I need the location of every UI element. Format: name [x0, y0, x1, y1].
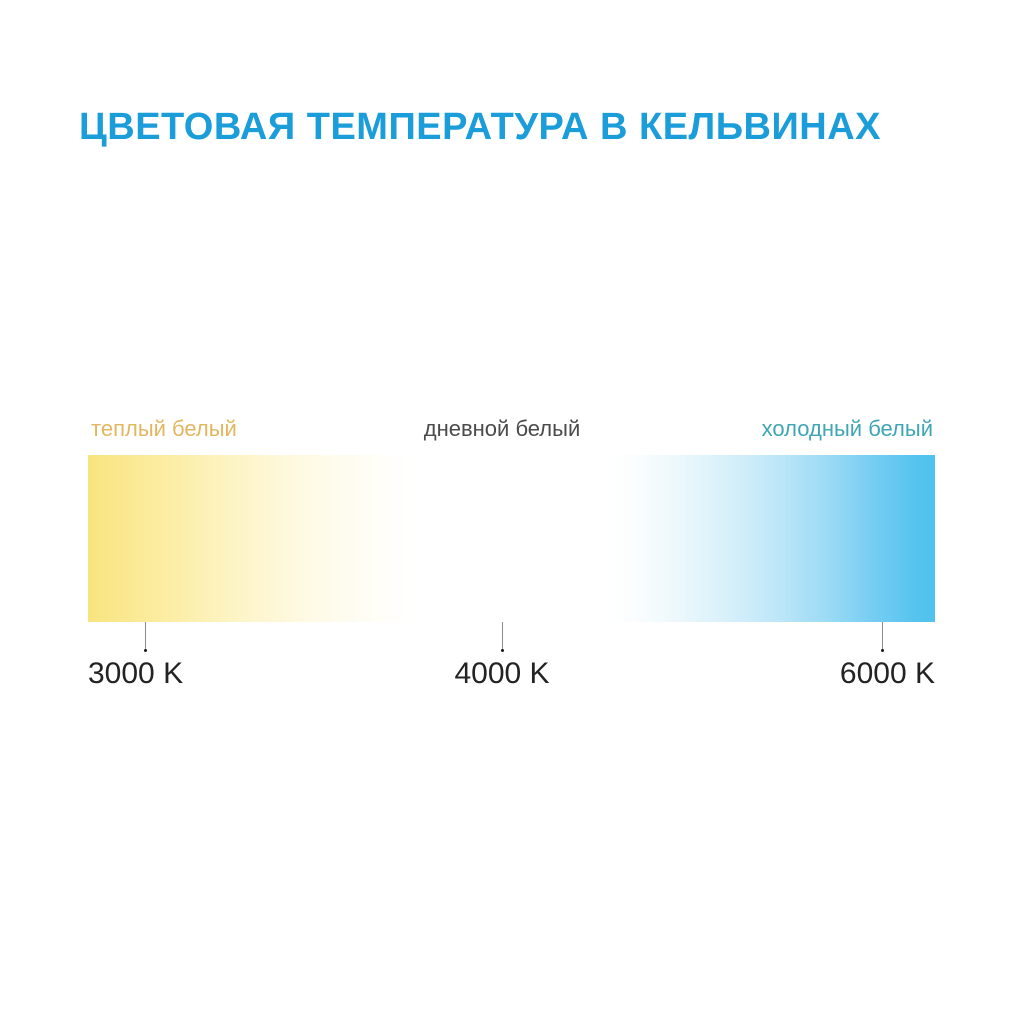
color-temperature-infographic: ЦВЕТОВАЯ ТЕМПЕРАТУРА В КЕЛЬВИНАХ теплый …	[0, 0, 1024, 1024]
tick-marker-3000k	[145, 622, 146, 650]
gradient-bar-cool-white	[612, 455, 935, 622]
caption-neutral-white: дневной белый	[352, 415, 652, 443]
gradient-bar-warm-white	[88, 455, 416, 622]
tick-marker-6000k	[882, 622, 883, 650]
kelvin-label-6000k: 6000 K	[735, 655, 935, 693]
caption-warm-white: теплый белый	[91, 415, 237, 443]
kelvin-label-3000k: 3000 K	[88, 655, 183, 693]
kelvin-scale: теплый белый дневной белый холодный белы…	[0, 0, 1024, 1024]
tick-marker-4000k	[502, 622, 503, 650]
caption-cool-white: холодный белый	[632, 415, 933, 443]
kelvin-label-4000k: 4000 K	[402, 655, 602, 693]
